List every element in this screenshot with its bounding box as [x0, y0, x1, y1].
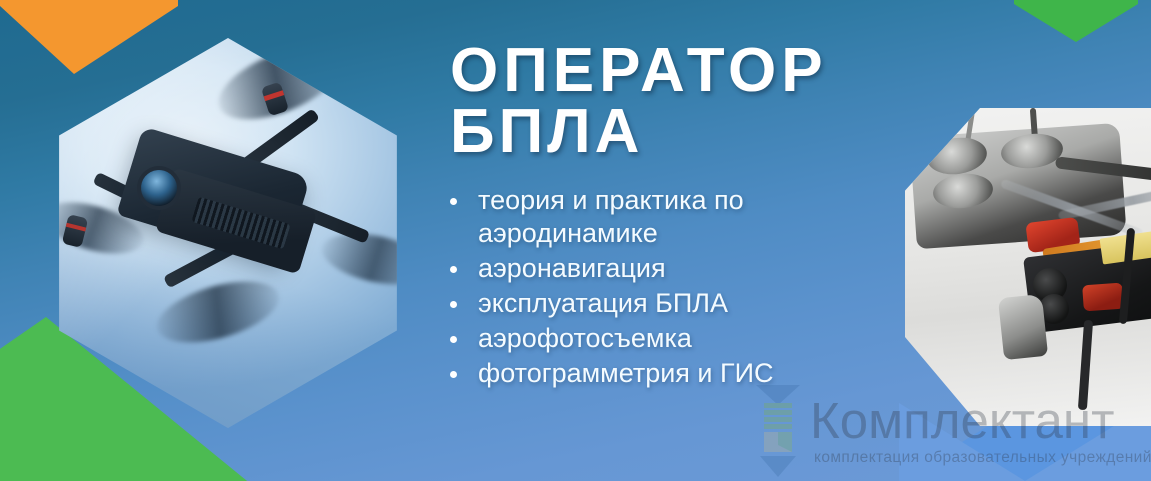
- corner-chevron-green-icon: [1014, 0, 1138, 42]
- banner-copy: ОПЕРАТОР БПЛА теория и практика по аэрод…: [450, 40, 920, 392]
- corner-chevron-orange-icon: [0, 0, 178, 74]
- fpv-motor: [1082, 283, 1124, 312]
- list-item: эксплуатация БПЛА: [450, 287, 920, 320]
- promo-banner: ОПЕРАТОР БПЛА теория и практика по аэрод…: [0, 0, 1151, 481]
- list-item: фотограмметрия и ГИС: [450, 357, 920, 390]
- page-title: ОПЕРАТОР БПЛА: [450, 40, 920, 162]
- course-topics-list: теория и практика по аэродинамике аэрона…: [450, 184, 920, 390]
- title-line-1: ОПЕРАТОР: [450, 40, 920, 101]
- arrow-books-logo-icon: [750, 383, 806, 479]
- drone-photo-right: [905, 108, 1151, 426]
- fpv-goggles: [998, 294, 1048, 360]
- title-line-2: БПЛА: [450, 101, 920, 162]
- list-item: аэрофотосъемка: [450, 322, 920, 355]
- list-item: теория и практика по аэродинамике: [450, 184, 920, 250]
- list-item: аэронавигация: [450, 252, 920, 285]
- fpv-landing-leg: [1078, 320, 1093, 410]
